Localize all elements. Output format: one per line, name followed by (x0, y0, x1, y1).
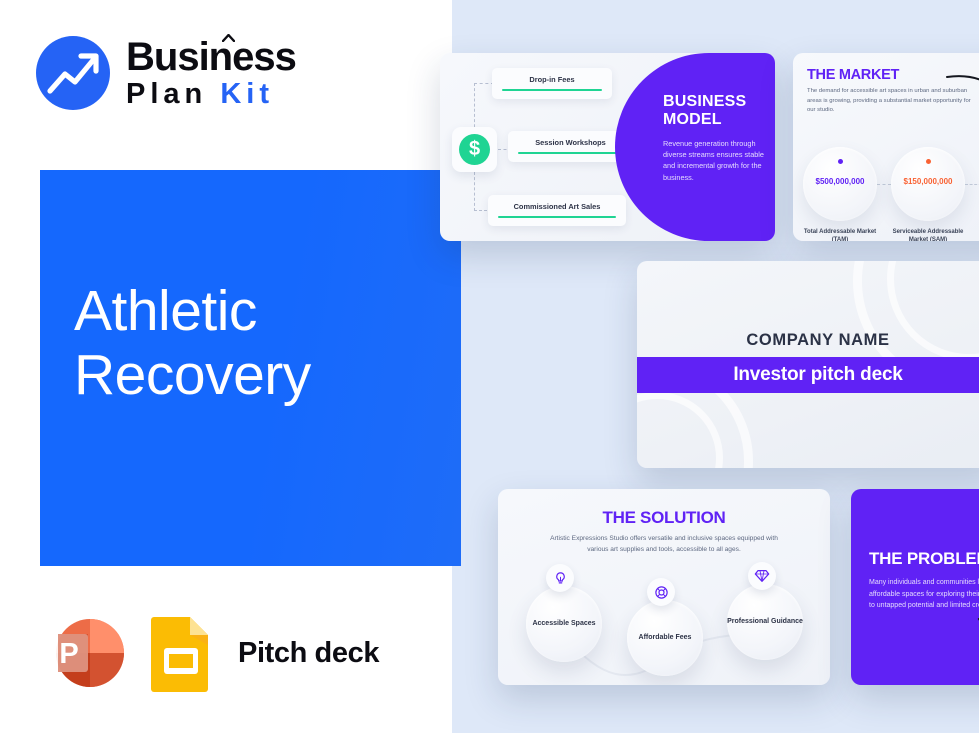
brand-logo: Business Plan Kit (36, 36, 296, 110)
connector-line-top-h (474, 83, 494, 84)
market-metric-circle: $500,000,000 (803, 147, 877, 221)
revenue-stream-item[interactable]: Drop-in Fees (492, 68, 612, 99)
solution-pillar-circle[interactable]: Affordable Fees (627, 600, 703, 676)
solution-pillar-label: Accessible Spaces (526, 619, 602, 629)
business-model-title: BUSINESS MODEL (663, 93, 767, 129)
brand-name-business: Business (126, 35, 296, 79)
metric-dot-icon (838, 159, 843, 164)
hero-title-line1: Athletic (74, 280, 414, 344)
revenue-stream-label: Drop-in Fees (502, 75, 602, 84)
brand-name-line1: Business (126, 37, 296, 77)
brand-wordmark: Business Plan Kit (126, 37, 296, 109)
life-ring-icon (647, 578, 675, 606)
powerpoint-icon: P (38, 608, 128, 698)
market-metric-value: $500,000,000 (803, 177, 877, 186)
solution-title: THE SOLUTION (498, 508, 830, 528)
brand-name-plan: Plan (126, 78, 207, 110)
problem-title: THE PROBLEM (869, 549, 979, 569)
revenue-stream-bar (498, 216, 616, 218)
connector-line-bottom (474, 172, 475, 211)
solution-description: Artistic Expressions Studio offers versa… (550, 534, 778, 555)
slide-solution[interactable]: THE SOLUTION Artistic Expressions Studio… (498, 489, 830, 685)
solution-pillar-label: Professional Guidance (727, 617, 803, 627)
revenue-stream-bar (502, 89, 602, 91)
format-row-label: Pitch deck (238, 637, 379, 670)
lightbulb-icon (546, 564, 574, 592)
problem-description: Many individuals and communities lack ac… (869, 577, 979, 612)
google-slides-icon (150, 614, 212, 692)
market-connector-right (965, 184, 979, 185)
slide-market[interactable]: THE MARKET The demand for accessible art… (793, 53, 979, 241)
revenue-stream-label: Commissioned Art Sales (498, 202, 616, 211)
solution-pillar-circle[interactable]: Accessible Spaces (526, 586, 602, 662)
business-model-description: Revenue generation through diverse strea… (663, 138, 771, 183)
market-title: THE MARKET (807, 67, 899, 83)
solution-pillar-circle[interactable]: Professional Guidance (727, 584, 803, 660)
circumflex-accent-icon (222, 34, 235, 42)
brand-name-kit: Kit (220, 78, 274, 110)
solution-pillar-label: Affordable Fees (627, 633, 703, 643)
slide-problem[interactable]: THE PROBLEM Many individuals and communi… (851, 489, 979, 685)
diamond-icon (748, 562, 776, 590)
svg-text:P: P (59, 638, 78, 670)
title-subtitle: Investor pitch deck (733, 364, 902, 386)
revenue-stream-bar (518, 152, 623, 154)
company-name: COMPANY NAME (637, 331, 979, 350)
slide-title[interactable]: COMPANY NAME Investor pitch deck (637, 261, 979, 468)
hero-title-line2: Recovery (74, 344, 414, 408)
revenue-stream-item[interactable]: Commissioned Art Sales (488, 195, 626, 226)
metric-dot-icon (926, 159, 931, 164)
market-connector-left (877, 184, 891, 185)
slide-business-model[interactable]: $ Drop-in Fees Session Workshops Commiss… (440, 53, 775, 241)
market-metric-value: $150,000,000 (891, 177, 965, 186)
title-purple-band: Investor pitch deck (637, 357, 979, 393)
curved-arrow-icon (945, 71, 979, 123)
brand-name-line2: Plan Kit (126, 80, 296, 109)
market-metric-caption: Total Addressable Market (TAM) (797, 228, 883, 241)
dollar-sign-icon: $ (459, 134, 490, 165)
hero-title: Athletic Recovery (74, 280, 414, 408)
business-model-purple-panel: BUSINESS MODEL Revenue generation throug… (615, 53, 775, 241)
market-metric-circle: $150,000,000 (891, 147, 965, 221)
format-row: P Pitch deck (38, 608, 379, 698)
poster-canvas: Business Plan Kit Athletic Recovery (0, 0, 979, 733)
market-metric-caption: Serviceable Addressable Market (SAM) (885, 228, 971, 241)
trending-up-circle-icon (36, 36, 110, 110)
dollar-icon-card: $ (452, 127, 497, 172)
revenue-stream-label: Session Workshops (518, 138, 623, 147)
